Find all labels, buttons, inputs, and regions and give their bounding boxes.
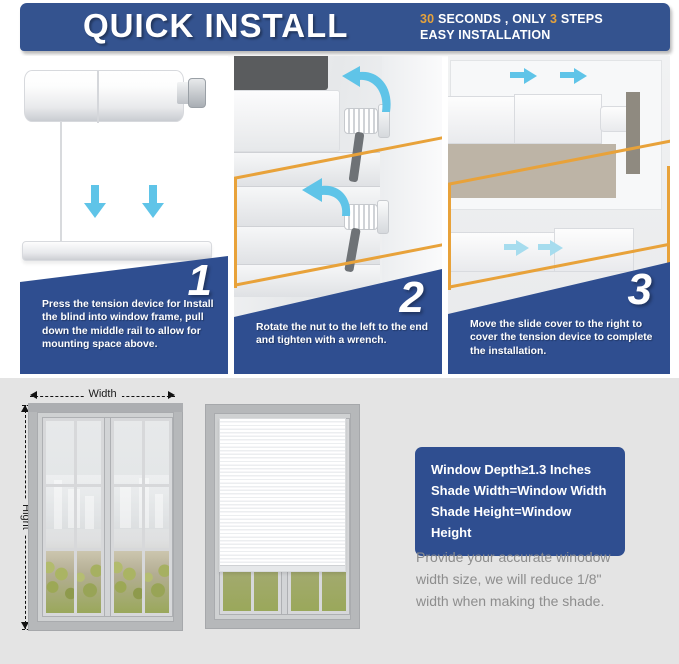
right-arrow-1-icon <box>524 68 537 84</box>
screw-bracket-bottom <box>377 200 389 234</box>
window-opening <box>214 413 351 620</box>
window-glass-right <box>114 421 169 613</box>
right-arrow-3-icon <box>516 240 529 256</box>
headrail-graphic <box>24 70 184 122</box>
requirement-height: Shade Height=Window Height <box>431 501 611 543</box>
header-subtitle-line1: 30 SECONDS , ONLY 3 STEPS <box>420 11 670 27</box>
jamb-dark <box>626 92 640 174</box>
down-arrow-1-stem <box>91 185 99 205</box>
requirement-depth: Window Depth≥1.3 Inches <box>431 459 611 480</box>
bottom-rail-graphic <box>22 241 212 261</box>
step-2-number: 2 <box>400 276 424 320</box>
window-opening <box>37 412 174 622</box>
building <box>120 487 131 529</box>
down-arrow-2-stem <box>149 185 157 205</box>
step-2-caption-text: Rotate the nut to the left to the end an… <box>256 321 434 348</box>
window-glass-left <box>46 421 101 613</box>
seconds-count: 30 <box>420 12 434 26</box>
muntin-vertical <box>74 421 77 613</box>
right-arrow-4-icon <box>550 240 563 256</box>
window-diagram-plain <box>28 403 183 631</box>
step-1-caption-text: Press the tension device for Install the… <box>42 298 220 352</box>
header-banner: QUICK INSTALL 30 SECONDS , ONLY 3 STEPS … <box>20 3 670 51</box>
building <box>54 480 63 528</box>
steps-text: STEPS <box>557 12 603 26</box>
slide-cover-upper-right <box>514 94 602 144</box>
sizing-note: Provide your accurate winodow width size… <box>416 546 631 612</box>
requirements-box: Window Depth≥1.3 Inches Shade Width=Wind… <box>415 447 625 556</box>
building <box>155 494 164 528</box>
muntin-horizontal <box>46 484 101 487</box>
cord-graphic <box>60 122 62 243</box>
step-panel-1: 1 Press the tension device for Install t… <box>20 56 228 374</box>
width-arrow-right-icon <box>168 391 175 399</box>
rotate-arrow-bottom-icon <box>300 176 356 222</box>
step-3-number: 3 <box>628 268 652 312</box>
page-title: QUICK INSTALL <box>83 7 348 45</box>
width-label: Width <box>83 388 121 400</box>
shade-bottom-rail <box>220 565 345 571</box>
muntin-horizontal <box>114 484 169 487</box>
step-panel-2: 2 Rotate the nut to the left to the end … <box>234 56 442 374</box>
slide-cover-upper-left <box>448 96 518 144</box>
requirement-width: Shade Width=Window Width <box>431 480 611 501</box>
step-1-number: 1 <box>188 259 212 303</box>
window-head-trim <box>28 403 183 412</box>
step-panel-3: 3 Move the slide cover to the right to c… <box>448 56 670 374</box>
slide-cover-lower-left <box>448 232 556 272</box>
window-diagram-with-shade <box>205 404 360 629</box>
cellular-shade <box>219 418 346 572</box>
width-arrow-left-icon <box>30 391 37 399</box>
rotate-arrow-top-icon <box>338 64 398 122</box>
dark-wall-shadow <box>234 56 328 90</box>
install-steps-section: QUICK INSTALL 30 SECONDS , ONLY 3 STEPS … <box>0 0 679 378</box>
down-arrow-1-icon <box>84 203 106 218</box>
window-sash-right <box>110 417 173 617</box>
headrail-seam <box>97 71 99 123</box>
down-arrow-2-icon <box>142 203 164 218</box>
infographic-page: QUICK INSTALL 30 SECONDS , ONLY 3 STEPS … <box>0 0 679 664</box>
header-subtitle-line2: EASY INSTALLATION <box>420 27 670 43</box>
muntin-vertical <box>142 421 145 613</box>
header-subtitle: 30 SECONDS , ONLY 3 STEPS EASY INSTALLAT… <box>420 11 670 43</box>
right-arrow-2-icon <box>574 68 587 84</box>
tension-knob-icon <box>188 78 206 108</box>
seconds-text: SECONDS , ONLY <box>434 12 550 26</box>
muntin-horizontal <box>114 548 169 551</box>
window-sash-left <box>42 417 105 617</box>
headrail-top <box>234 90 340 152</box>
muntin-horizontal <box>46 548 101 551</box>
building <box>85 496 95 528</box>
slide-cover-lower-right <box>554 228 634 272</box>
tan-wall-upper <box>448 144 616 198</box>
step-3-caption-text: Move the slide cover to the right to cov… <box>470 318 662 358</box>
